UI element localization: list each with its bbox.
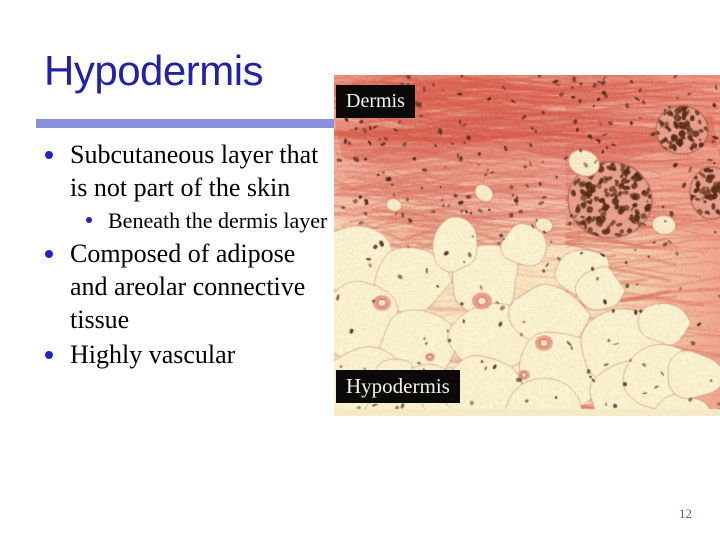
- bullet-dot-icon: [45, 250, 53, 258]
- figure-label-hypodermis: Hypodermis: [336, 370, 460, 403]
- list-item-label: Subcutaneous layer that is not part of t…: [70, 138, 334, 204]
- list-item: Subcutaneous layer that is not part of t…: [36, 138, 334, 204]
- list-item: Beneath the dermis layer: [36, 206, 334, 235]
- figure-label-dermis: Dermis: [336, 85, 415, 118]
- micrograph-image: [334, 75, 720, 416]
- page-title: Hypodermis: [44, 48, 263, 94]
- slide-canvas: Hypodermis Subcutaneous layer that is no…: [0, 0, 720, 539]
- bullet-dot-icon: [45, 351, 53, 359]
- bullet-list: Subcutaneous layer that is not part of t…: [36, 138, 334, 448]
- list-item-label: Beneath the dermis layer: [108, 206, 334, 235]
- slide-number: 12: [679, 506, 692, 522]
- histology-micrograph: Dermis Hypodermis: [334, 75, 720, 416]
- list-item-label: Highly vascular: [70, 338, 334, 371]
- list-item-label: Composed of adipose and areolar connecti…: [70, 237, 334, 336]
- list-item: Composed of adipose and areolar connecti…: [36, 237, 334, 336]
- title-divider-rule: [36, 119, 342, 128]
- bullet-dot-icon: [86, 217, 92, 223]
- list-item: Highly vascular: [36, 338, 334, 371]
- bullet-dot-icon: [45, 151, 53, 159]
